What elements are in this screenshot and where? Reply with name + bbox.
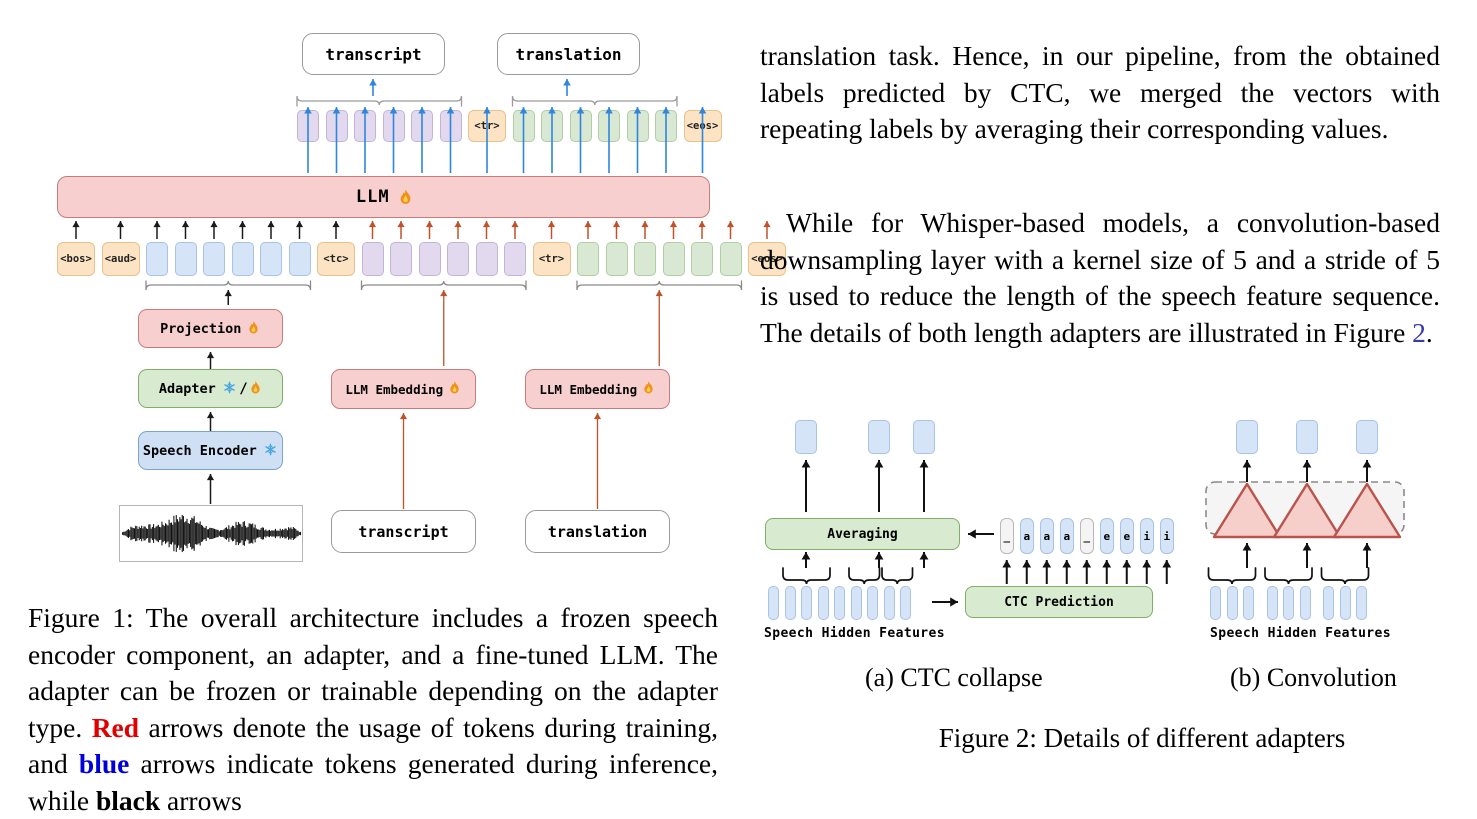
input-token-audio: [289, 242, 311, 276]
input-token-transcript: [419, 242, 441, 276]
conv-label: Conv.: [1221, 512, 1273, 525]
ctc-label-token: a: [1040, 518, 1054, 554]
speech-feature-box: [834, 586, 845, 620]
conv-output-box: [1296, 420, 1318, 454]
ctc-label-token: i: [1140, 518, 1154, 554]
figure-1-caption-prefix: Figure 1:: [28, 602, 134, 633]
output-token-translation: [541, 110, 563, 142]
output-token-transcript: [354, 110, 376, 142]
figure-2-caption: Figure 2: Details of different adapters: [862, 723, 1422, 754]
ctc-blank-token: _: [1000, 518, 1014, 554]
output-token-transcript: [411, 110, 433, 142]
output-token-transcript: [440, 110, 462, 142]
speech-feature-box: [1227, 586, 1238, 620]
input-token-audio: [260, 242, 282, 276]
speech-feature-box: [884, 586, 895, 620]
subfigure-a-caption: (a) CTC collapse: [865, 663, 1043, 693]
speech-feature-box: [900, 586, 911, 620]
body-paragraph-1: translation task. Hence, in our pipeline…: [760, 38, 1440, 148]
input-token-transcript: [390, 242, 412, 276]
input-token-transcript: [362, 242, 384, 276]
output-token-transcript: [326, 110, 348, 142]
paragraph-1-text: translation task. Hence, in our pipeline…: [760, 40, 1440, 144]
input-token-bos: <bos>: [57, 242, 95, 276]
paragraph-2-text-a: While for Whisper-based models, a convol…: [760, 207, 1440, 348]
flame-icon: [1362, 495, 1372, 508]
paper-page: transcript translation LLM Projection: [0, 0, 1477, 787]
paragraph-2-text-b: .: [1426, 317, 1433, 348]
input-token-translation: [606, 242, 628, 276]
speech-feature-box: [785, 586, 796, 620]
input-token-translation: [577, 242, 599, 276]
output-token-transcript: [297, 110, 319, 142]
right-column: translation task. Hence, in our pipeline…: [740, 0, 1477, 787]
speech-feature-box: [1210, 586, 1221, 620]
input-token-audio: [175, 242, 197, 276]
input-token-translation: [720, 242, 742, 276]
subfigure-a-caption-text: (a) CTC collapse: [865, 663, 1043, 692]
speech-feature-box: [768, 586, 779, 620]
figure-1-caption: Figure 1: The overall architecture inclu…: [28, 600, 718, 819]
input-token-translation: [634, 242, 656, 276]
speech-feature-box: [1323, 586, 1334, 620]
subfigure-b-caption: (b) Convolution: [1230, 663, 1397, 693]
figure-1-caption-text-4: arrows: [160, 785, 242, 816]
input-token-translation: [663, 242, 685, 276]
ctc-output-box: [795, 420, 817, 454]
speech-feature-box: [1340, 586, 1351, 620]
ctc-label-token: e: [1100, 518, 1114, 554]
input-token-transcript: [447, 242, 469, 276]
speech-feature-box: [1267, 586, 1278, 620]
figure-2-diagram: Averaging CTC Prediction Speech Hidden F…: [740, 400, 1477, 660]
output-token-tr: <tr>: [468, 110, 506, 142]
left-column: transcript translation LLM Projection: [0, 0, 740, 787]
ctc-output-box: [868, 420, 890, 454]
speech-feature-box: [851, 586, 862, 620]
input-token-transcript: [504, 242, 526, 276]
conv-output-box: [1236, 420, 1258, 454]
speech-feature-box: [867, 586, 878, 620]
speech-feature-box: [801, 586, 812, 620]
conv-label: Conv.: [1281, 512, 1333, 525]
speech-feature-box: [1243, 586, 1254, 620]
ctc-blank-token: _: [1080, 518, 1094, 554]
flame-icon: [1302, 495, 1312, 508]
figure-1-caption-red-word: Red: [92, 712, 139, 743]
input-token-audio: [203, 242, 225, 276]
ctc-label-token: e: [1120, 518, 1134, 554]
input-token-tc: <tc>: [317, 242, 355, 276]
figure-2-reference-link[interactable]: 2: [1412, 317, 1426, 348]
speech-feature-box: [818, 586, 829, 620]
output-token-translation: [627, 110, 649, 142]
ctc-label-token: i: [1160, 518, 1174, 554]
subfigure-b-caption-text: (b) Convolution: [1230, 663, 1397, 692]
flame-icon: [1242, 495, 1252, 508]
input-token-translation: [691, 242, 713, 276]
output-token-translation: [655, 110, 677, 142]
output-token-eos: <eos>: [684, 110, 722, 142]
input-token-aud: <aud>: [102, 242, 140, 276]
output-token-translation: [513, 110, 535, 142]
figure-1-diagram: transcript translation LLM Projection: [0, 0, 740, 585]
output-token-translation: [598, 110, 620, 142]
speech-feature-box: [1283, 586, 1294, 620]
output-token-translation: [570, 110, 592, 142]
input-token-tr: <tr>: [533, 242, 571, 276]
input-token-transcript: [476, 242, 498, 276]
speech-feature-box: [1356, 586, 1367, 620]
figure-1-caption-blue-word: blue: [79, 748, 129, 779]
input-token-audio: [232, 242, 254, 276]
conv-label: Conv.: [1341, 512, 1393, 525]
input-token-audio: [146, 242, 168, 276]
conv-output-box: [1356, 420, 1378, 454]
figure-1-caption-black-word: black: [96, 785, 160, 816]
ctc-output-box: [913, 420, 935, 454]
ctc-label-token: a: [1060, 518, 1074, 554]
ctc-label-token: a: [1020, 518, 1034, 554]
body-paragraph-2: While for Whisper-based models, a convol…: [760, 205, 1440, 351]
figure-2-caption-text: Figure 2: Details of different adapters: [939, 723, 1346, 753]
speech-feature-box: [1300, 586, 1311, 620]
output-token-transcript: [383, 110, 405, 142]
